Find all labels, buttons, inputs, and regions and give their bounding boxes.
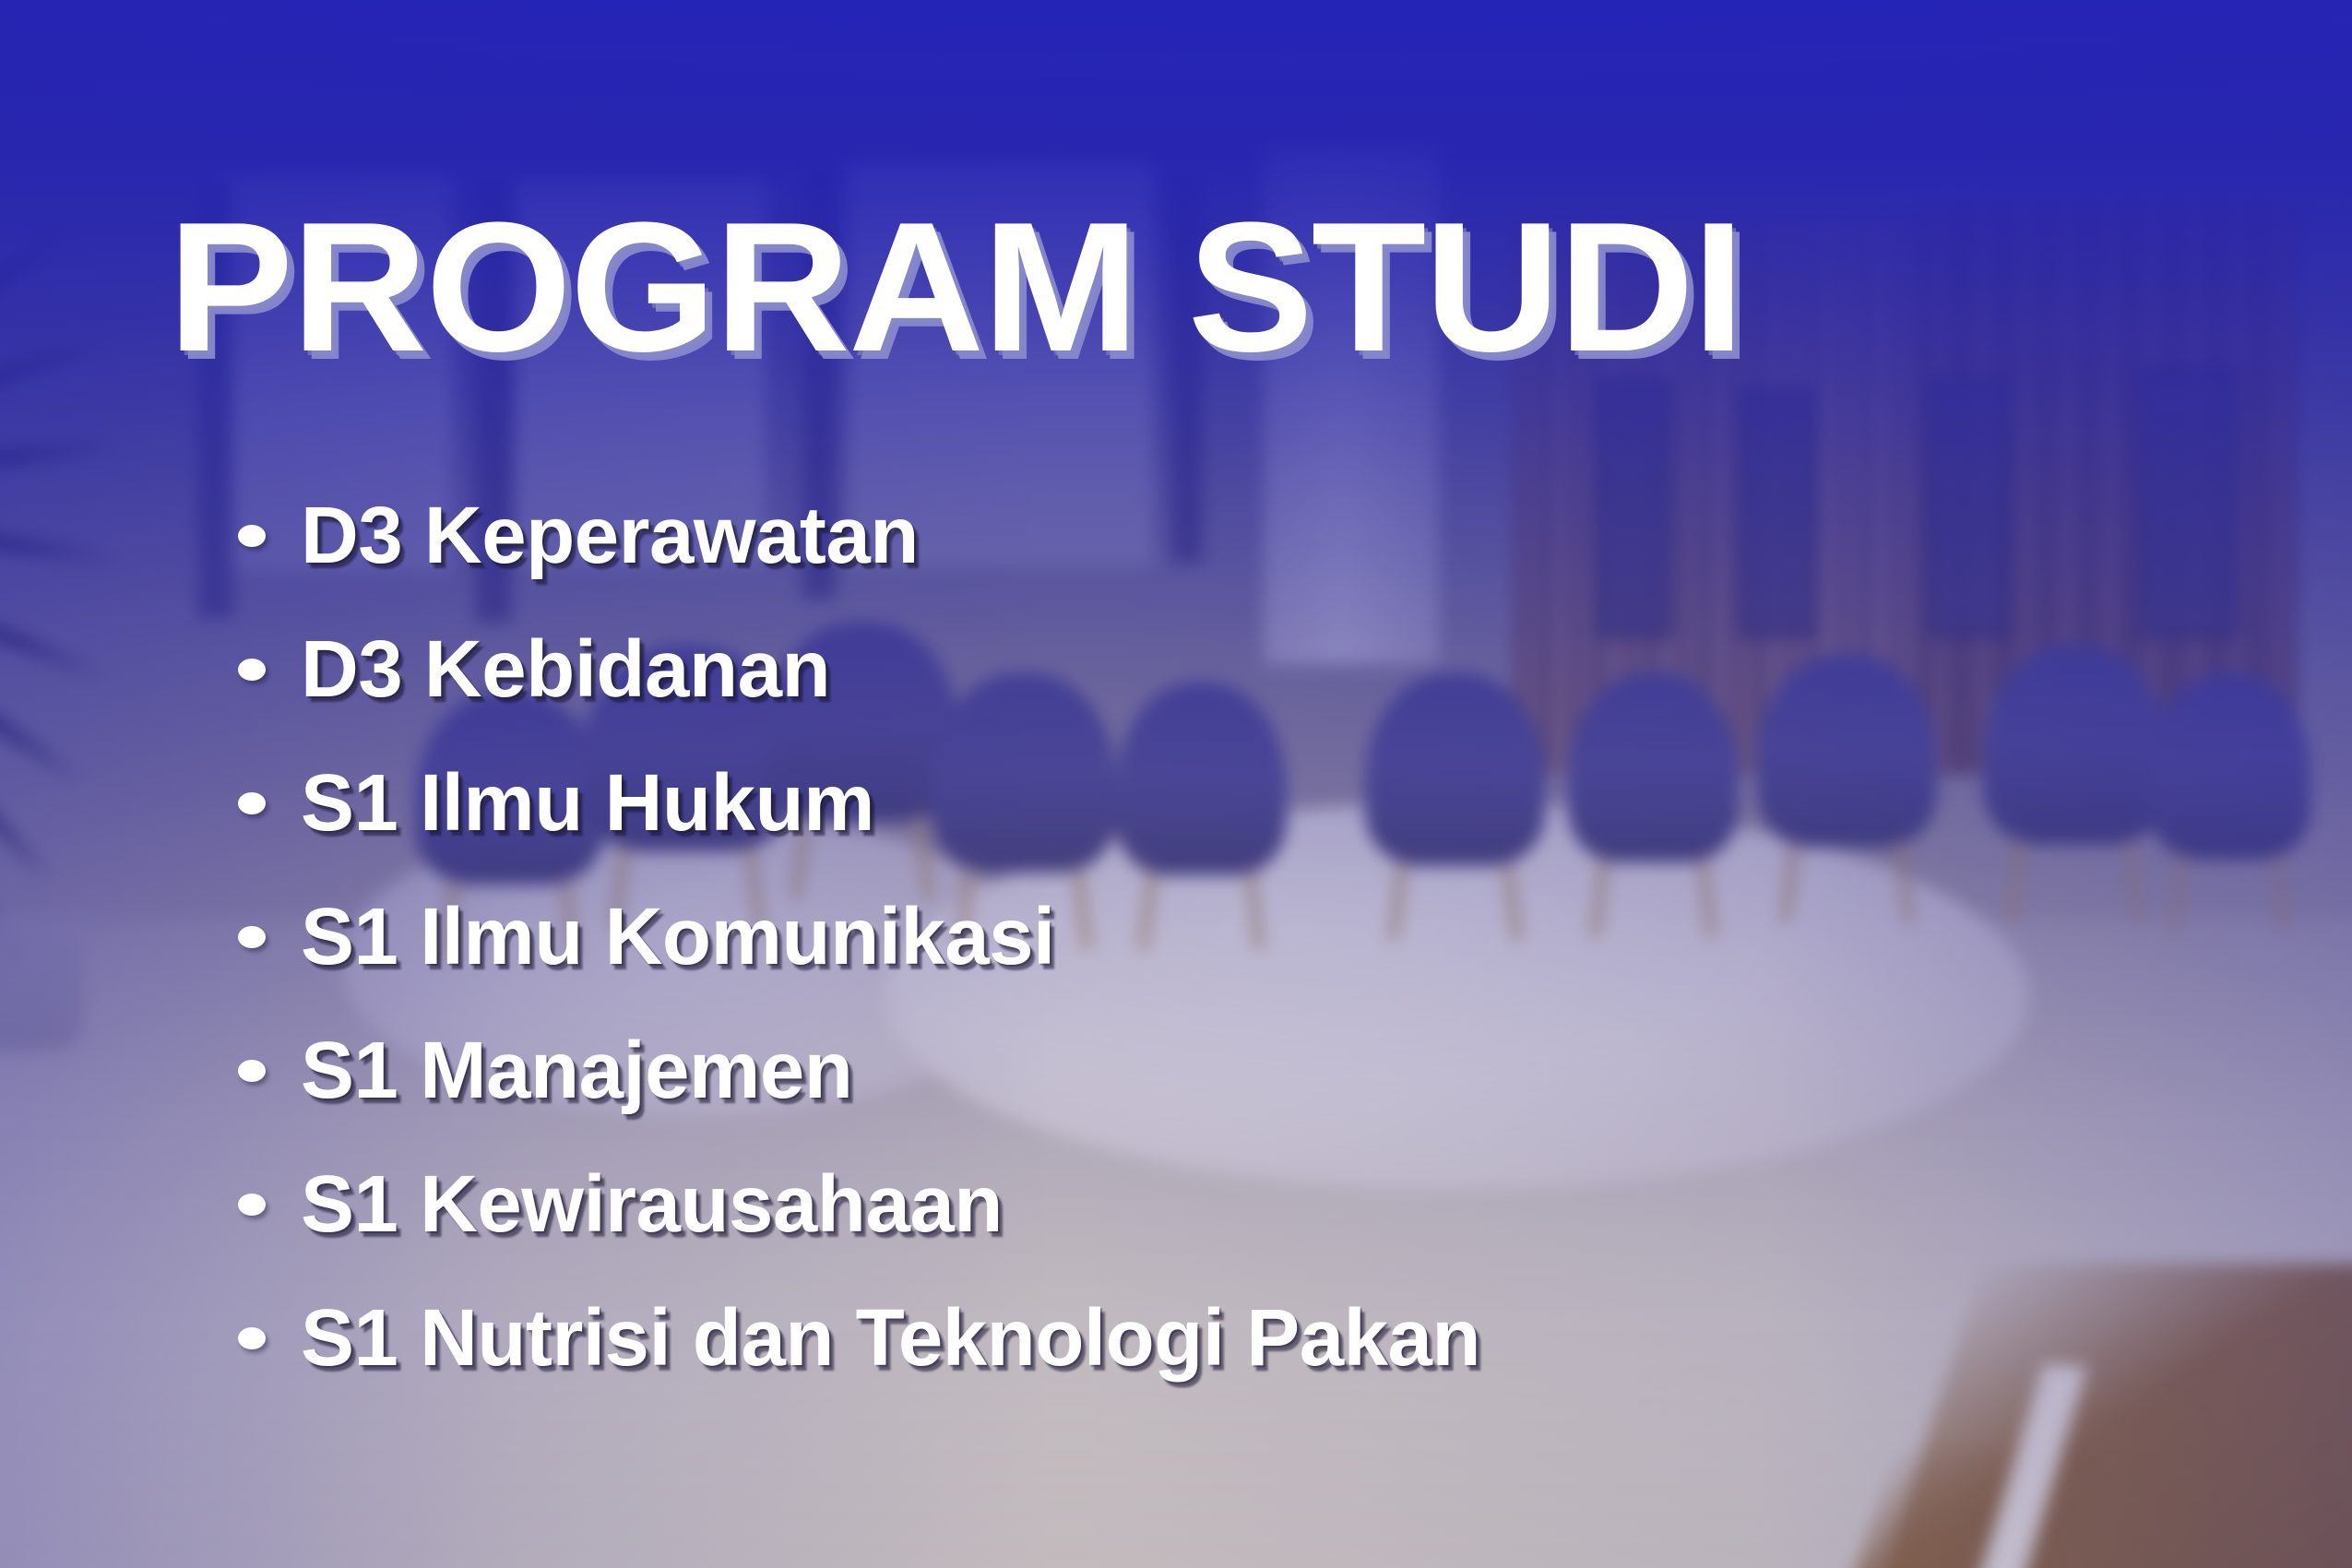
page-title: PROGRAM STUDI bbox=[168, 196, 1742, 380]
list-item-label: D3 Kebidanan bbox=[301, 624, 830, 716]
bullet-dot-icon bbox=[238, 1194, 266, 1216]
list-item: D3 Keperawatan bbox=[238, 469, 1480, 602]
list-item: S1 Manajemen bbox=[238, 1004, 1480, 1137]
list-item-label: S1 Nutrisi dan Teknologi Pakan bbox=[301, 1292, 1480, 1384]
list-item-label: S1 Ilmu Hukum bbox=[301, 757, 874, 849]
bullet-dot-icon bbox=[238, 1060, 266, 1082]
bullet-dot-icon bbox=[238, 792, 266, 814]
program-study-list: D3 Keperawatan D3 Kebidanan S1 Ilmu Huku… bbox=[238, 469, 1480, 1405]
list-item-label: S1 Manajemen bbox=[301, 1025, 852, 1117]
list-item: S1 Ilmu Komunikasi bbox=[238, 870, 1480, 1004]
list-item: S1 Kewirausahaan bbox=[238, 1137, 1480, 1271]
list-item-label: S1 Ilmu Komunikasi bbox=[301, 891, 1055, 983]
list-item-label: S1 Kewirausahaan bbox=[301, 1158, 1003, 1251]
bullet-dot-icon bbox=[238, 525, 266, 547]
bullet-dot-icon bbox=[238, 926, 266, 948]
bullet-dot-icon bbox=[238, 659, 266, 681]
list-item-label: D3 Keperawatan bbox=[301, 490, 919, 582]
list-item: S1 Ilmu Hukum bbox=[238, 736, 1480, 870]
slide-content: PROGRAM STUDI D3 Keperawatan D3 Kebidana… bbox=[0, 0, 2352, 1568]
bullet-dot-icon bbox=[238, 1327, 266, 1349]
list-item: D3 Kebidanan bbox=[238, 602, 1480, 736]
presentation-slide: PROGRAM STUDI D3 Keperawatan D3 Kebidana… bbox=[0, 0, 2352, 1568]
list-item: S1 Nutrisi dan Teknologi Pakan bbox=[238, 1271, 1480, 1405]
